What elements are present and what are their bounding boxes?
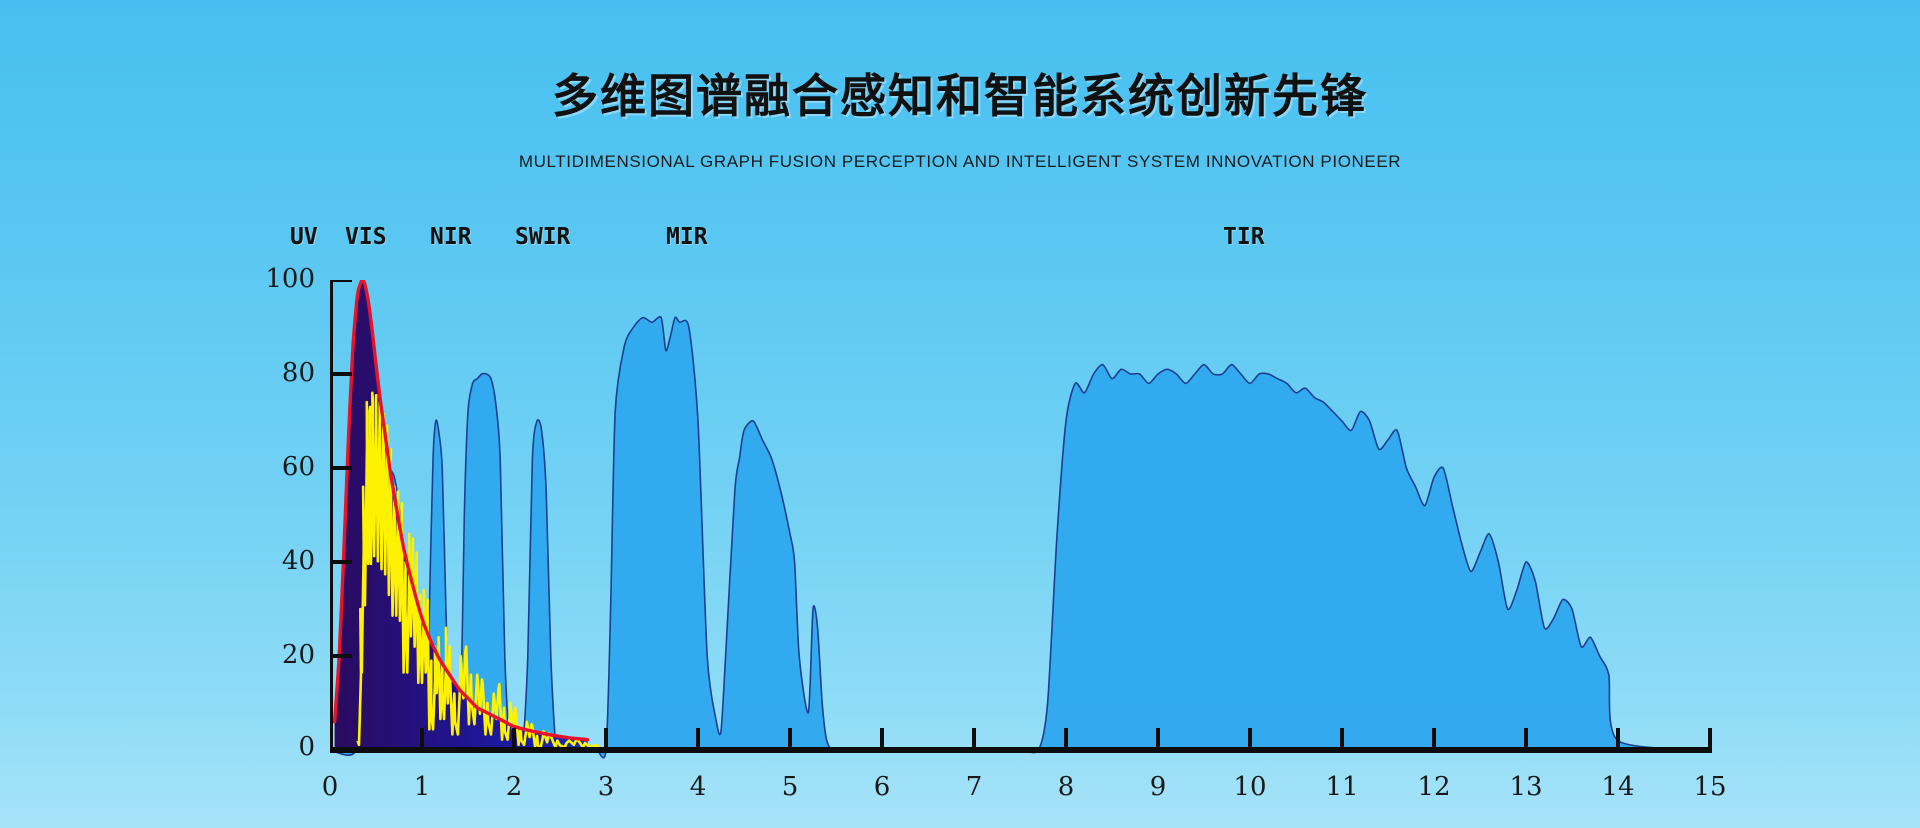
page-subtitle: MULTIDIMENSIONAL GRAPH FUSION PERCEPTION… <box>0 152 1920 172</box>
banner-background: 多维图谱融合感知和智能系统创新先锋 MULTIDIMENSIONAL GRAPH… <box>0 0 1920 828</box>
band-label-vis: VIS <box>345 224 387 250</box>
band-label-uv: UV <box>290 224 318 250</box>
band-label-nir: NIR <box>430 224 472 250</box>
band-label-tir: TIR <box>1223 224 1265 250</box>
transmission-area <box>330 317 1710 758</box>
y-tick-60: 60 <box>255 452 315 482</box>
plot-svg <box>330 280 1730 780</box>
y-tick-100: 100 <box>255 264 315 294</box>
spectrum-chart: UV VIS NIR SWIR MIR TIR 100 80 60 40 20 … <box>330 220 1715 780</box>
band-label-mir: MIR <box>666 224 708 250</box>
y-tick-20: 20 <box>255 640 315 670</box>
y-tick-40: 40 <box>255 546 315 576</box>
page-title: 多维图谱融合感知和智能系统创新先锋 <box>0 60 1920 126</box>
y-tick-0: 0 <box>255 732 315 762</box>
band-label-swir: SWIR <box>515 224 570 250</box>
plot-area <box>330 280 1710 750</box>
y-tick-80: 80 <box>255 358 315 388</box>
